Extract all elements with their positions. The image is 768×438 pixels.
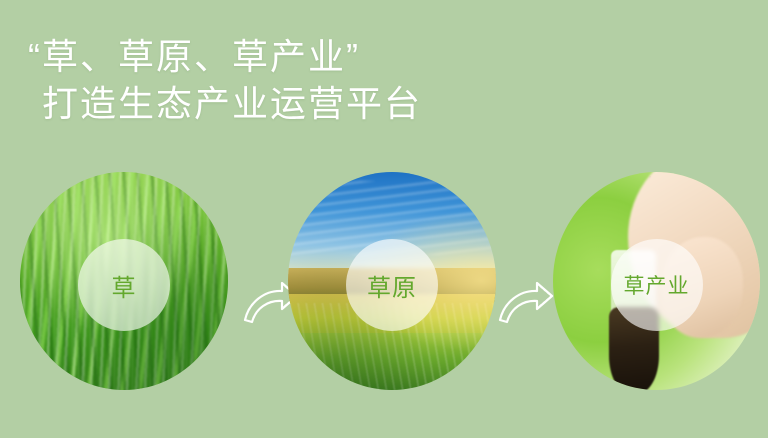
stage-label-grass-industry: 草产业 xyxy=(624,270,690,300)
stage-label-grassland: 草原 xyxy=(367,268,417,303)
page-title-line-1: “草、草原、草产业” xyxy=(28,34,422,81)
banner-canvas: “草、草原、草产业” 打造生态产业运营平台 草 草 xyxy=(0,0,768,438)
stage-circle-grass[interactable]: 草 xyxy=(20,172,228,390)
stage-badge-grass-industry: 草产业 xyxy=(611,239,703,331)
curved-arrow-right-icon-2 xyxy=(496,272,558,328)
page-title: “草、草原、草产业” 打造生态产业运营平台 xyxy=(28,34,422,128)
stage-label-grass: 草 xyxy=(112,268,137,303)
stage-badge-grass: 草 xyxy=(78,239,170,331)
stage-circle-grassland[interactable]: 草原 xyxy=(288,172,496,390)
stage-badge-grassland: 草原 xyxy=(346,239,438,331)
stage-circle-grass-industry[interactable]: 草产业 xyxy=(553,172,760,390)
page-title-line-2: 打造生态产业运营平台 xyxy=(28,81,422,128)
